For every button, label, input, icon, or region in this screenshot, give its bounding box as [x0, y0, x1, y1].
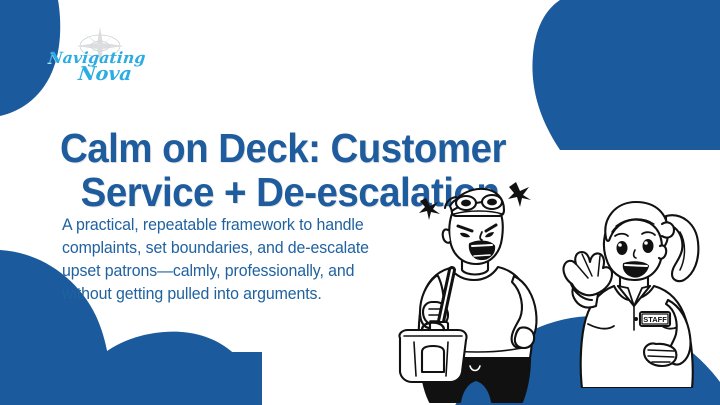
title-line-1: Calm on Deck: Customer: [60, 126, 485, 170]
subtitle-line-3: upset patrons—calmly, professionally, an…: [62, 260, 407, 283]
title-slide: Navigating Nova Calm on Deck: Customer S…: [0, 0, 720, 405]
subtitle-line-1: A practical, repeatable framework to han…: [62, 214, 407, 237]
bottom-left-fill: [0, 352, 262, 405]
subtitle: A practical, repeatable framework to han…: [62, 214, 407, 306]
subtitle-line-2: complaints, set boundaries, and de-escal…: [62, 237, 407, 260]
logo[interactable]: Navigating Nova: [38, 26, 156, 92]
logo-line-2: Nova: [53, 65, 157, 84]
page-title: Calm on Deck: Customer Service + De-esca…: [60, 126, 485, 214]
title-line-2: Service + De-escalation: [81, 170, 485, 214]
subtitle-line-4: without getting pulled into arguments.: [62, 283, 407, 306]
logo-wordmark: Navigating Nova: [38, 50, 156, 84]
